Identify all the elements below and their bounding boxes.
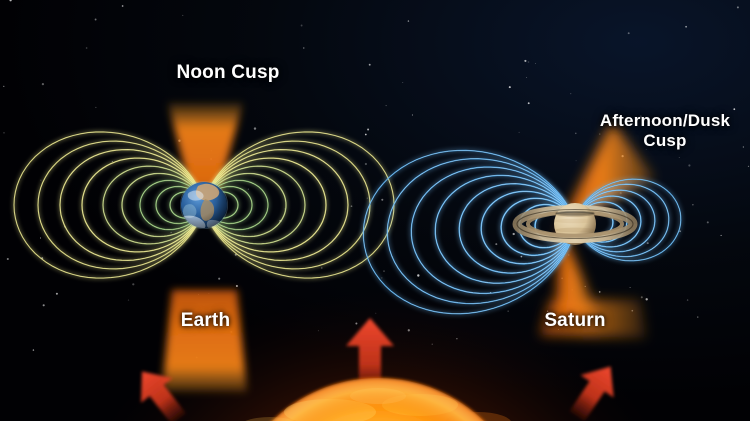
solar-wind-arrow-left <box>126 359 194 421</box>
magnetosphere-illustration: Noon Cusp Afternoon/Dusk Cusp Earth Satu… <box>0 0 750 421</box>
sun <box>226 378 530 421</box>
sun-and-solar-wind-layer <box>0 0 750 421</box>
solar-wind-arrow-right <box>560 355 627 421</box>
